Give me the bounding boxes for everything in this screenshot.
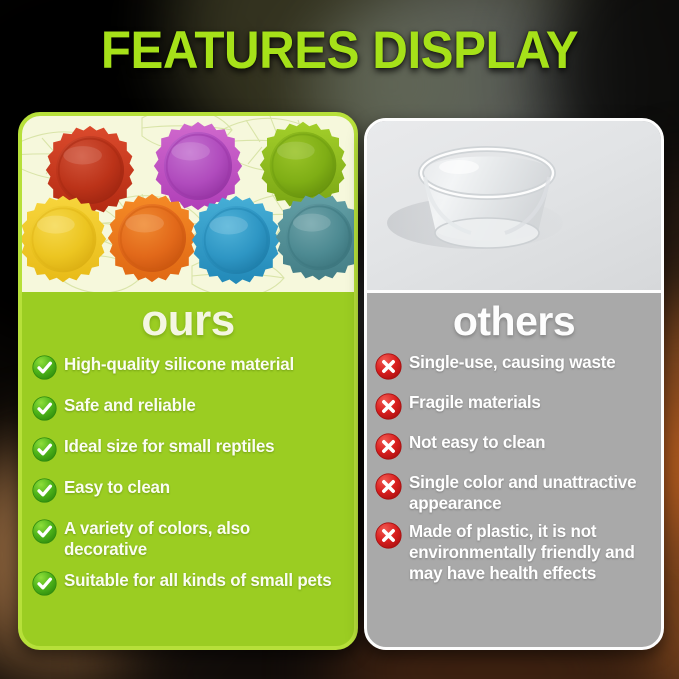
list-item-label: Single color and unattractive appearance	[409, 472, 648, 514]
list-item-label: Easy to clean	[64, 477, 170, 498]
check-circle-icon	[32, 396, 57, 426]
list-item: Single-use, causing waste	[375, 352, 655, 385]
x-circle-icon	[375, 473, 402, 505]
check-circle-icon	[32, 437, 57, 467]
orange-cup	[106, 192, 198, 284]
list-item-label: Suitable for all kinds of small pets	[64, 570, 332, 591]
x-circle-icon	[375, 522, 402, 554]
plastic-cup-icon	[367, 121, 661, 287]
list-item: Easy to clean	[32, 477, 344, 508]
list-item: High-quality silicone material	[32, 354, 344, 385]
ours-product-photo	[22, 116, 354, 292]
teal-cup	[274, 192, 354, 282]
list-item-label: Ideal size for small reptiles	[64, 436, 274, 457]
check-circle-icon	[32, 519, 57, 549]
list-item: Suitable for all kinds of small pets	[32, 570, 344, 601]
page-title: FEATURES DISPLAY	[24, 22, 655, 80]
list-item: Single color and unattractive appearance	[375, 472, 655, 514]
list-item: A variety of colors, also decorative	[32, 518, 344, 560]
list-item-label: Fragile materials	[409, 392, 541, 413]
yellow-cup	[22, 194, 108, 284]
ours-feature-list: High-quality silicone material Safe and …	[22, 350, 354, 601]
list-item: Not easy to clean	[375, 432, 655, 465]
list-item: Safe and reliable	[32, 395, 344, 426]
list-item-label: Made of plastic, it is not environmental…	[409, 521, 648, 584]
check-circle-icon	[32, 571, 57, 601]
others-product-photo	[367, 121, 661, 293]
check-circle-icon	[32, 478, 57, 508]
list-item: Ideal size for small reptiles	[32, 436, 344, 467]
list-item-label: Safe and reliable	[64, 395, 196, 416]
x-circle-icon	[375, 393, 402, 425]
check-circle-icon	[32, 355, 57, 385]
x-circle-icon	[375, 433, 402, 465]
list-item: Fragile materials	[375, 392, 655, 425]
blue-cup	[190, 194, 282, 286]
others-panel: others Single-use, causing waste	[364, 118, 664, 650]
x-circle-icon	[375, 353, 402, 385]
list-item-label: High-quality silicone material	[64, 354, 294, 375]
list-item-label: Not easy to clean	[409, 432, 545, 453]
list-item: Made of plastic, it is not environmental…	[375, 521, 655, 584]
ours-heading: ours	[22, 292, 354, 350]
ours-panel: ours High-quality silicone material	[18, 112, 358, 650]
list-item-label: Single-use, causing waste	[409, 352, 615, 373]
others-heading: others	[367, 293, 661, 350]
list-item-label: A variety of colors, also decorative	[64, 518, 336, 560]
others-drawback-list: Single-use, causing waste Fragile materi…	[367, 350, 661, 584]
